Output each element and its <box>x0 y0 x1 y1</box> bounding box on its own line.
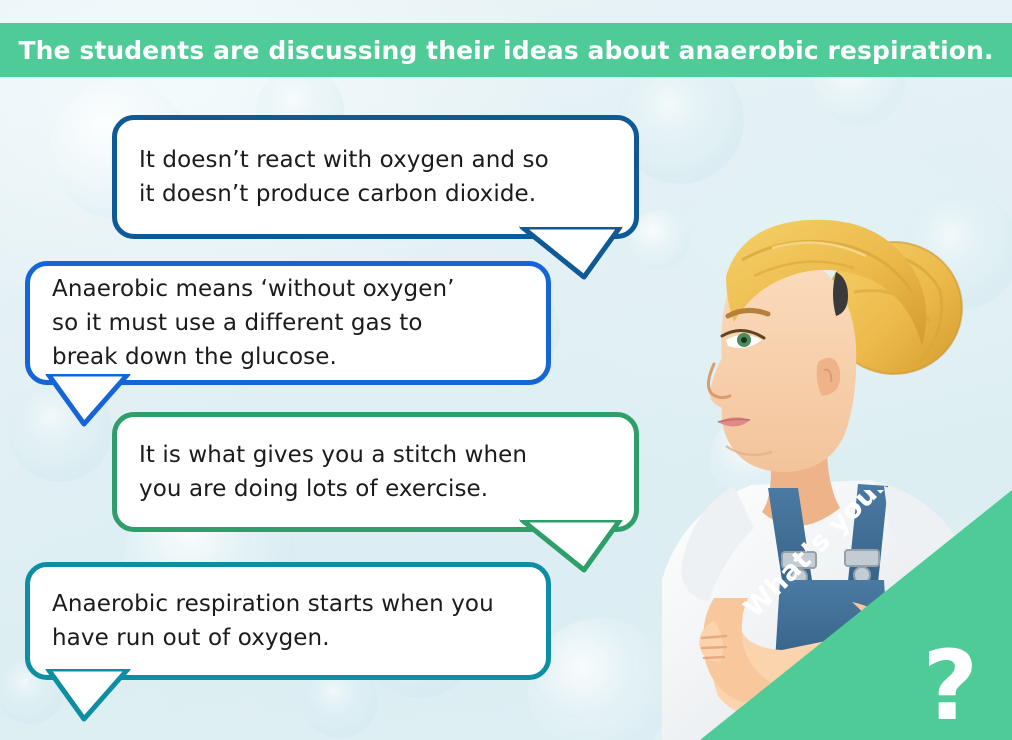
slide-canvas: It doesn’t react with oxygen and so it d… <box>0 0 1012 740</box>
speech-bubble-1-text: It doesn’t react with oxygen and so it d… <box>117 143 571 211</box>
speech-bubble-1[interactable]: It doesn’t react with oxygen and so it d… <box>112 115 639 239</box>
speech-bubble-2-text: Anaerobic means ‘without oxygen’ so it m… <box>30 272 477 374</box>
speech-bubble-4[interactable]: Anaerobic respiration starts when you ha… <box>25 562 551 680</box>
speech-bubble-2[interactable]: Anaerobic means ‘without oxygen’ so it m… <box>25 261 551 385</box>
girl-student-illustration <box>622 150 1012 740</box>
speech-bubble-3[interactable]: It is what gives you a stitch when you a… <box>112 412 639 532</box>
banner-title: The students are discussing their ideas … <box>18 36 993 65</box>
header-banner: The students are discussing their ideas … <box>0 23 1012 77</box>
speech-bubble-4-text: Anaerobic respiration starts when you ha… <box>30 587 516 655</box>
speech-bubble-3-text: It is what gives you a stitch when you a… <box>117 438 549 506</box>
